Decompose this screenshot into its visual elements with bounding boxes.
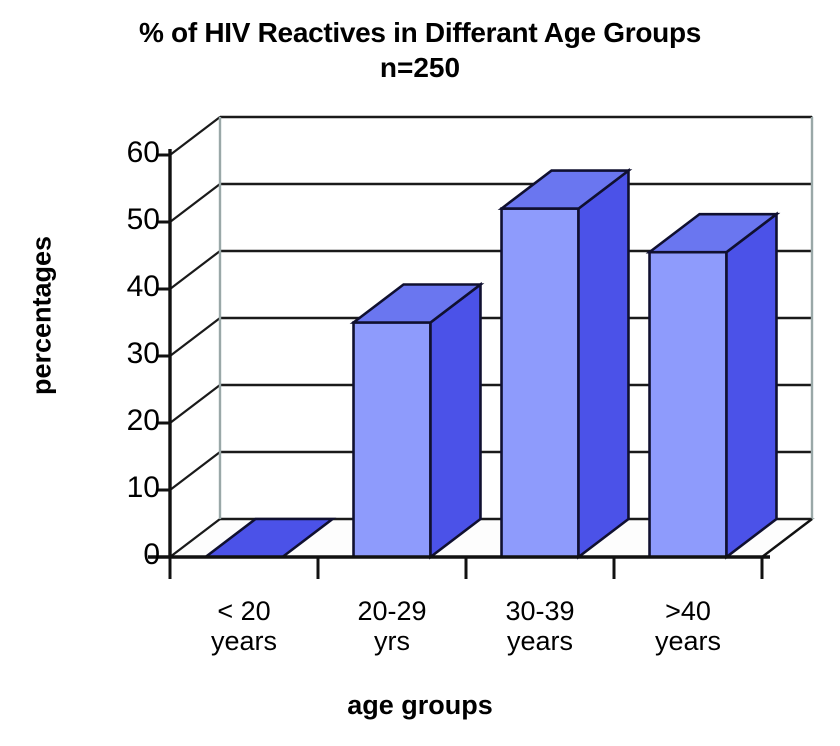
bar-side-face xyxy=(726,214,776,557)
x-axis-label: age groups xyxy=(0,690,840,721)
bar-1 xyxy=(354,285,481,558)
gridline-depth-20 xyxy=(170,385,220,423)
y-axis-label: percentages xyxy=(27,196,58,436)
chart-page: % of HIV Reactives in Differant Age Grou… xyxy=(0,0,840,746)
gridline-depth-40 xyxy=(170,251,220,289)
y-tick-label-30: 30 xyxy=(90,339,160,369)
gridline-depth-50 xyxy=(170,184,220,222)
x-tick-label-line-1: years xyxy=(608,626,768,656)
y-tick-label-60: 60 xyxy=(90,138,160,168)
bar-front-face xyxy=(354,323,431,558)
x-tick-label-line-0: < 20 xyxy=(164,596,324,626)
bar-side-face xyxy=(430,285,480,558)
x-tick-label-0: < 20years xyxy=(164,596,324,656)
y-tick-label-0: 0 xyxy=(90,540,160,570)
x-tick-label-3: >40years xyxy=(608,596,768,656)
x-tick-label-line-0: >40 xyxy=(608,596,768,626)
x-tick-label-1: 20-29yrs xyxy=(312,596,472,656)
y-tick-label-10: 10 xyxy=(90,473,160,503)
y-tick-label-20: 20 xyxy=(90,406,160,436)
bar-side-face xyxy=(578,171,628,557)
bar-3 xyxy=(650,214,777,557)
y-axis-tick-labels: 0102030405060 xyxy=(82,0,160,746)
x-tick-label-line-0: 20-29 xyxy=(312,596,472,626)
gridline-depth-10 xyxy=(170,452,220,490)
y-tick-label-40: 40 xyxy=(90,272,160,302)
x-tick-label-line-0: 30-39 xyxy=(460,596,620,626)
x-tick-label-2: 30-39years xyxy=(460,596,620,656)
x-tick-label-line-1: years xyxy=(164,626,324,656)
y-tick-label-50: 50 xyxy=(90,205,160,235)
bar-front-face xyxy=(650,252,727,557)
x-tick-label-line-1: years xyxy=(460,626,620,656)
bar-front-face xyxy=(502,209,579,557)
bar-2 xyxy=(502,171,629,557)
x-tick-label-line-1: yrs xyxy=(312,626,472,656)
gridline-depth-60 xyxy=(170,117,220,155)
gridline-depth-30 xyxy=(170,318,220,356)
